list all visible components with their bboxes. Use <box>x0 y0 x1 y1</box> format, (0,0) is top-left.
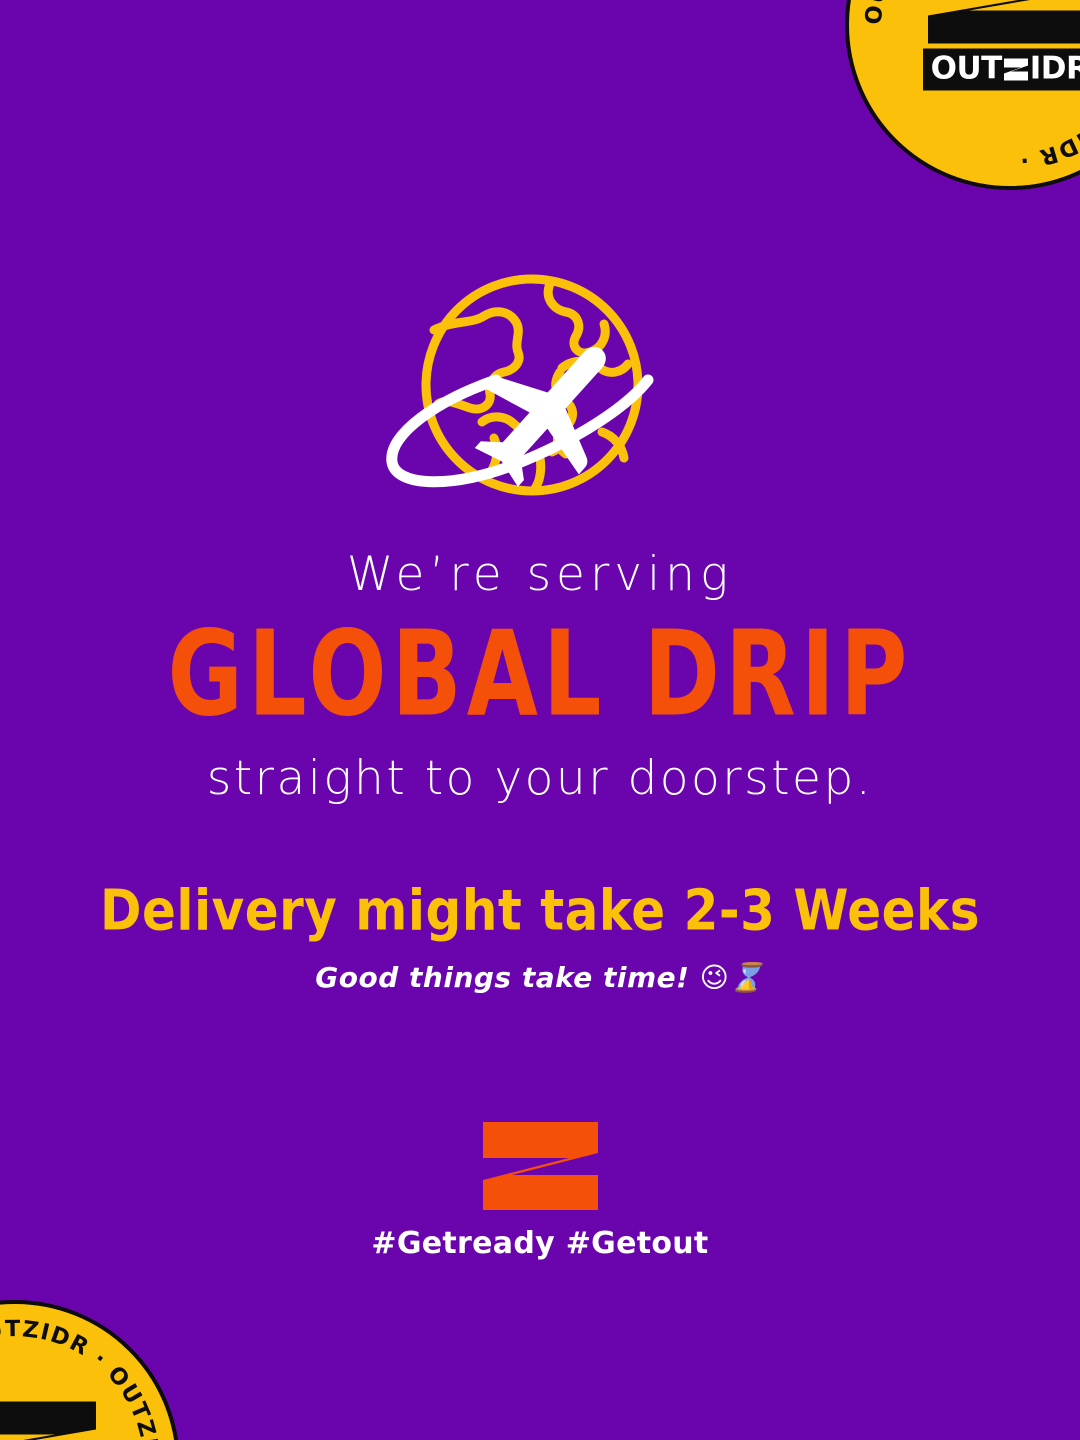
delivery-notice: Delivery might take 2-3 Weeks <box>0 880 1080 942</box>
outzidr-badge-top-right: OUTZIDR · OUTZIDR · OUTZIDR · OUTZIDR · … <box>845 0 1080 190</box>
badge-z-icon <box>0 1400 100 1440</box>
badge-core: OUT IDR <box>0 1400 110 1440</box>
badge-wordmark-text: OUT IDR <box>931 54 1080 85</box>
poster-canvas: We’re serving GLOBAL DRIP straight to yo… <box>0 0 1080 1440</box>
reassurance-text: Good things take time! 😉⌛ <box>0 961 1080 995</box>
badge-wordmark: OUT IDR <box>923 49 1080 91</box>
main-copy: We’re serving GLOBAL DRIP straight to yo… <box>0 548 1080 995</box>
globe-airplane-icon <box>364 272 716 510</box>
hashtags: #Getready #Getout <box>371 1226 708 1261</box>
headline: GLOBAL DRIP <box>0 616 1080 734</box>
outzidr-badge-bottom-left: OUTZIDR · OUTZIDR · OUTZIDR · OUTZIDR · … <box>0 1300 180 1440</box>
badge-wordmark-left: OUT <box>931 54 1002 85</box>
badge-wordmark-z-icon <box>1003 57 1029 81</box>
tagline-intro: We’re serving <box>0 548 1080 602</box>
tagline-outro: straight to your doorstep. <box>0 752 1080 806</box>
footer-brand: #Getready #Getout <box>0 1120 1080 1261</box>
badge-z-icon <box>925 0 1080 46</box>
hero-graphic <box>0 272 1080 510</box>
badge-core: OUT IDR <box>915 0 1080 91</box>
outzidr-z-logo <box>479 1120 602 1212</box>
badge-wordmark-right: IDR <box>1030 54 1080 85</box>
